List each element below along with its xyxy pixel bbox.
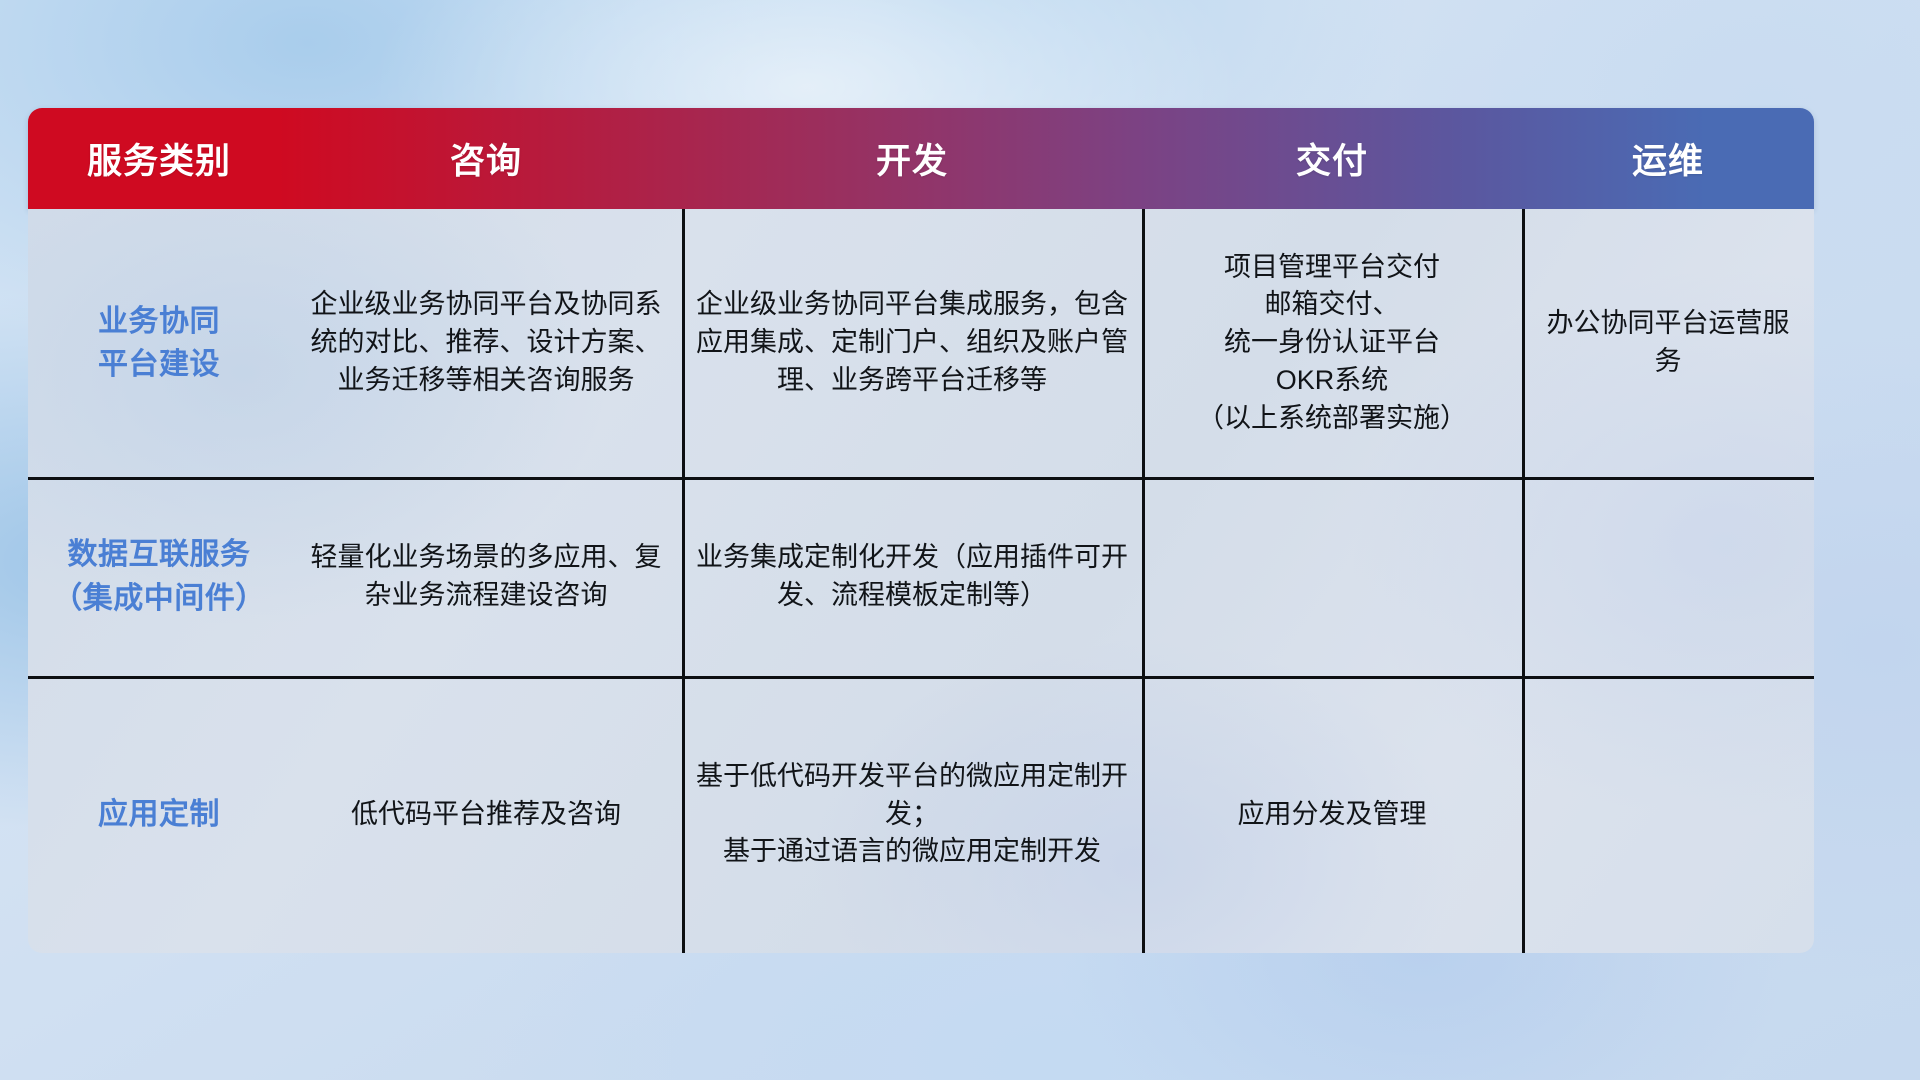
column-header-delivery: 交付 [1142, 133, 1522, 184]
cell-development: 业务集成定制化开发（应用插件可开发、流程模板定制等） [682, 477, 1142, 676]
cell-category: 数据互联服务（集成中间件） [28, 477, 290, 676]
column-header-category: 服务类别 [28, 133, 290, 184]
cell-development: 基于低代码开发平台的微应用定制开发；基于通过语言的微应用定制开发 [682, 676, 1142, 953]
table-body: 业务协同平台建设 企业级业务协同平台及协同系统的对比、推荐、设计方案、业务迁移等… [28, 209, 1814, 953]
cell-consulting: 企业级业务协同平台及协同系统的对比、推荐、设计方案、业务迁移等相关咨询服务 [290, 209, 682, 477]
table-row: 业务协同平台建设 企业级业务协同平台及协同系统的对比、推荐、设计方案、业务迁移等… [28, 209, 1814, 477]
cell-operations [1522, 477, 1814, 676]
cell-category: 应用定制 [28, 676, 290, 953]
cell-category: 业务协同平台建设 [28, 209, 290, 477]
cell-consulting: 低代码平台推荐及咨询 [290, 676, 682, 953]
column-header-development: 开发 [682, 133, 1142, 184]
column-header-consulting: 咨询 [290, 133, 682, 184]
table-row: 应用定制 低代码平台推荐及咨询 基于低代码开发平台的微应用定制开发；基于通过语言… [28, 676, 1814, 953]
cell-delivery: 项目管理平台交付邮箱交付、统一身份认证平台OKR系统（以上系统部署实施） [1142, 209, 1522, 477]
table-header-row: 服务类别 咨询 开发 交付 运维 [28, 108, 1814, 209]
column-header-operations: 运维 [1522, 133, 1814, 184]
cell-delivery: 应用分发及管理 [1142, 676, 1522, 953]
table-row: 数据互联服务（集成中间件） 轻量化业务场景的多应用、复杂业务流程建设咨询 业务集… [28, 477, 1814, 676]
cell-development: 企业级业务协同平台集成服务，包含应用集成、定制门户、组织及账户管理、业务跨平台迁… [682, 209, 1142, 477]
cell-operations [1522, 676, 1814, 953]
cell-operations: 办公协同平台运营服务 [1522, 209, 1814, 477]
service-category-table: 服务类别 咨询 开发 交付 运维 业务协同平台建设 企业级业务协同平台及协同系统… [28, 108, 1814, 953]
cell-consulting: 轻量化业务场景的多应用、复杂业务流程建设咨询 [290, 477, 682, 676]
cell-delivery [1142, 477, 1522, 676]
